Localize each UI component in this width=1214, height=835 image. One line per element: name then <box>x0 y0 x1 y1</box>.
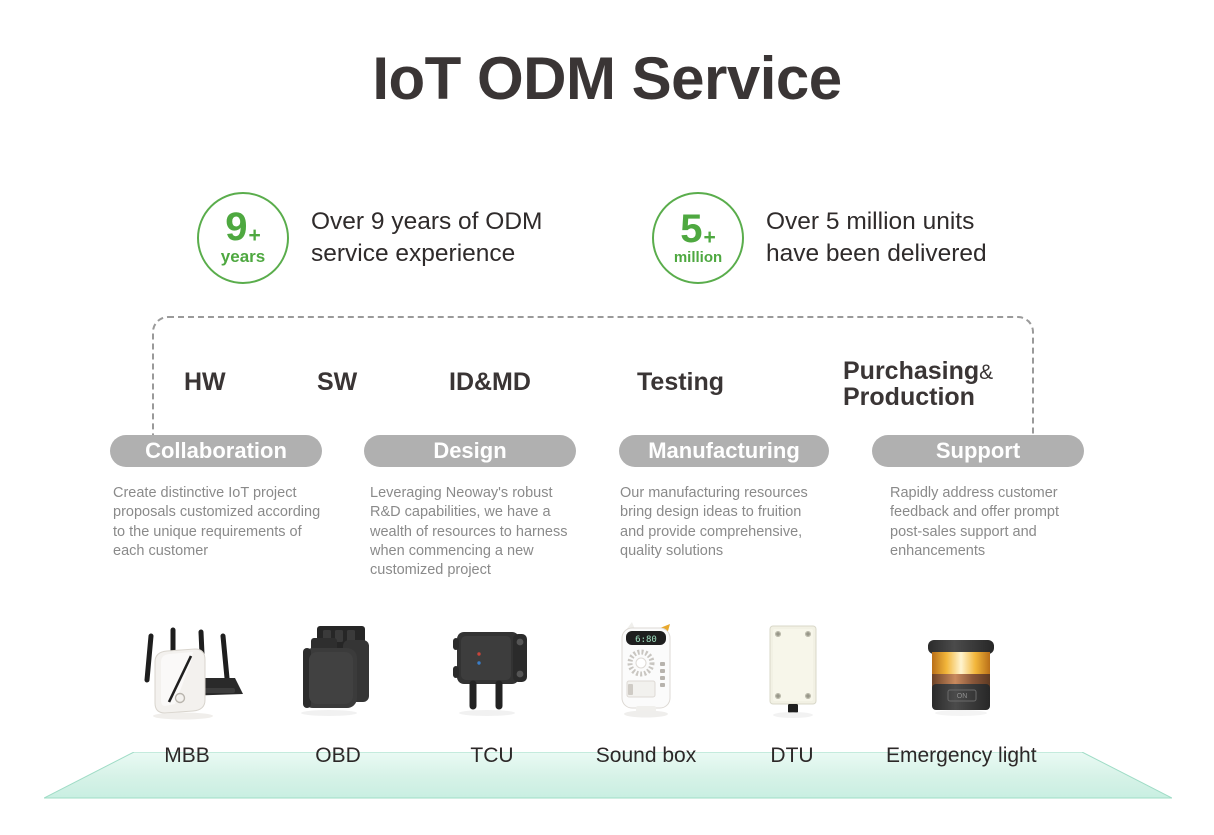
page-title: IoT ODM Service <box>0 44 1214 113</box>
dtu-box-icon <box>717 620 867 728</box>
product-item-mbb: MBB <box>112 620 262 728</box>
phase-heading-idmd: ID&MD <box>449 368 531 397</box>
product-label-tcu: TCU <box>417 744 567 768</box>
phase-heading-testing: Testing <box>637 368 724 397</box>
product-item-emergency-light: ON Emergency light <box>886 620 1036 728</box>
product-label-emergency-light: Emergency light <box>886 744 1036 768</box>
product-gallery: MBB OBD <box>0 620 1214 780</box>
badge-unit-label: million <box>674 249 722 266</box>
badge-plus-sign: + <box>703 227 715 248</box>
badge-circle-years: 9 + years <box>197 192 289 284</box>
badge-number: 5 <box>680 211 702 248</box>
stat-item-years: 9 + years Over 9 years of ODM service ex… <box>197 192 542 284</box>
badge-number: 9 <box>225 209 247 246</box>
stage-description-design: Leveraging Neoway's robust R&D capabilit… <box>370 484 598 580</box>
stage-description-manufacturing: Our manufacturing resources bring design… <box>620 484 842 561</box>
tcu-module-icon <box>417 620 567 728</box>
stat-description-years: Over 9 years of ODM service experience <box>311 206 542 271</box>
phase-heading-line2: Production <box>843 383 975 411</box>
product-label-obd: OBD <box>263 744 413 768</box>
sound-box-icon: 6:80 <box>571 620 721 728</box>
emergency-light-icon: ON <box>886 620 1036 728</box>
phase-heading-line1: Purchasing <box>843 357 979 385</box>
svg-text:ON: ON <box>957 693 968 700</box>
phase-heading-hw: HW <box>184 368 226 397</box>
slide-root: IoT ODM Service 9 + years Over 9 years o… <box>0 0 1214 835</box>
phase-heading-ampersand: & <box>979 361 993 384</box>
stats-row: 9 + years Over 9 years of ODM service ex… <box>0 192 1214 292</box>
stat-item-units: 5 + million Over 5 million units have be… <box>652 192 987 284</box>
badge-value-group: 9 + <box>225 209 261 246</box>
stat-description-units: Over 5 million units have been delivered <box>766 206 987 271</box>
stage-description-support: Rapidly address customer feedback and of… <box>890 484 1100 561</box>
badge-unit-label: years <box>221 247 265 267</box>
stage-pill-design[interactable]: Design <box>364 435 576 467</box>
stage-pill-support[interactable]: Support <box>872 435 1084 467</box>
product-label-dtu: DTU <box>717 744 867 768</box>
product-label-mbb: MBB <box>112 744 262 768</box>
badge-plus-sign: + <box>248 225 260 246</box>
stage-pill-manufacturing[interactable]: Manufacturing <box>619 435 829 467</box>
router-device-icon <box>112 620 262 728</box>
svg-text:6:80: 6:80 <box>635 635 657 645</box>
phase-heading-sw: SW <box>317 368 357 397</box>
product-item-obd: OBD <box>263 620 413 728</box>
product-item-tcu: TCU <box>417 620 567 728</box>
obd-dongle-icon <box>263 620 413 728</box>
badge-circle-units: 5 + million <box>652 192 744 284</box>
product-item-sound-box: 6:80 Sound box <box>571 620 721 728</box>
product-label-sound-box: Sound box <box>571 744 721 768</box>
phase-heading-purchasing-production: Purchasing& Production <box>843 358 993 410</box>
stage-description-collaboration: Create distinctive IoT project proposals… <box>113 484 341 561</box>
badge-value-group: 5 + <box>680 211 716 248</box>
product-item-dtu: DTU <box>717 620 867 728</box>
stage-pill-collaboration[interactable]: Collaboration <box>110 435 322 467</box>
